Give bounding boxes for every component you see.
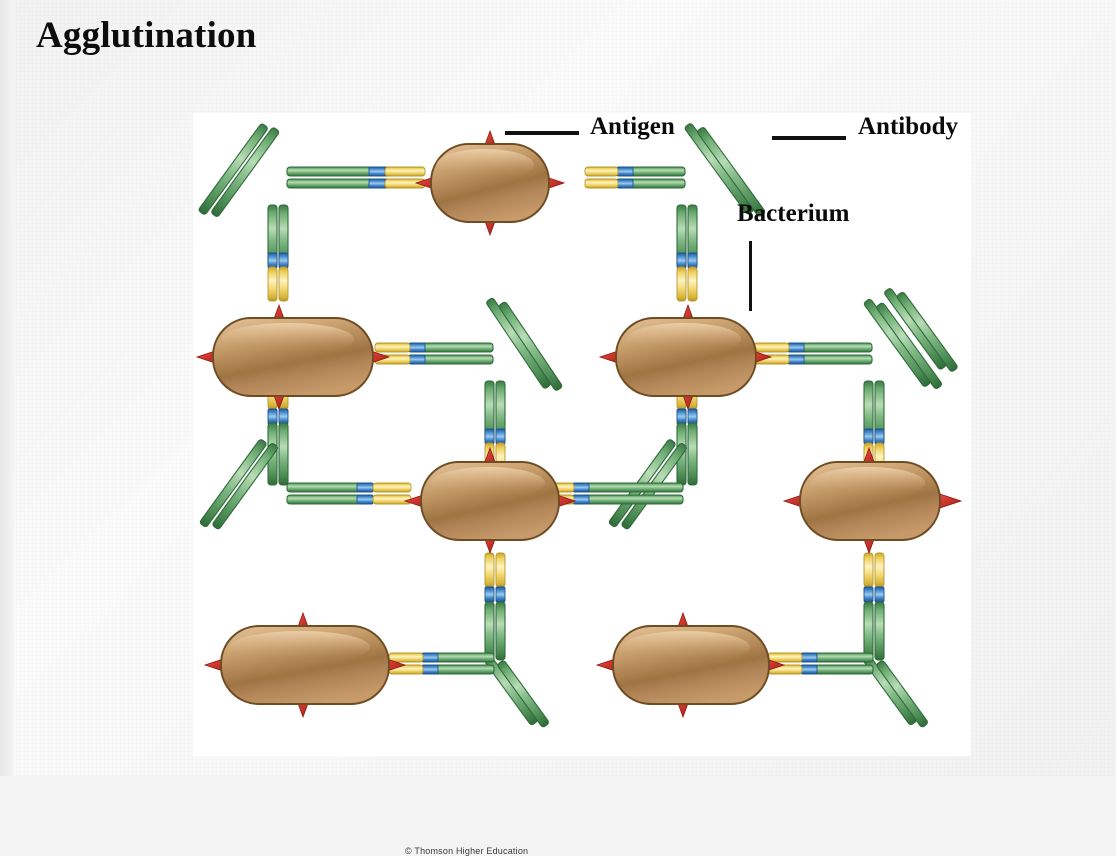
- antibody-leader-line: [772, 136, 846, 140]
- antibody: [199, 375, 411, 530]
- antigen-leader-line: [505, 131, 579, 135]
- bacterium: [205, 613, 405, 717]
- bacterium-leader-line: [749, 241, 752, 311]
- bacterium-label: Bacterium: [737, 200, 849, 228]
- antibody-label: Antibody: [858, 113, 958, 141]
- slide-left-edge-strip: [0, 0, 14, 776]
- bacterium: [405, 448, 575, 553]
- antibody: [389, 553, 550, 728]
- slide-background: Agglutination: [0, 0, 1116, 776]
- bacterium: [784, 448, 961, 553]
- copyright-credit: © Thomson Higher Education: [405, 846, 528, 856]
- antigen-label: Antigen: [590, 113, 675, 141]
- agglutination-diagram: [193, 113, 971, 756]
- antibody: [768, 553, 929, 728]
- bacterium: [197, 305, 389, 409]
- bacterium: [597, 613, 784, 717]
- antibody: [539, 375, 697, 530]
- antibody: [375, 297, 563, 477]
- figure-panel: © Thomson Higher Education: [193, 113, 971, 756]
- bacterium: [416, 131, 564, 235]
- bacterium: [600, 305, 771, 409]
- antibody: [198, 123, 425, 301]
- page-title: Agglutination: [36, 14, 257, 57]
